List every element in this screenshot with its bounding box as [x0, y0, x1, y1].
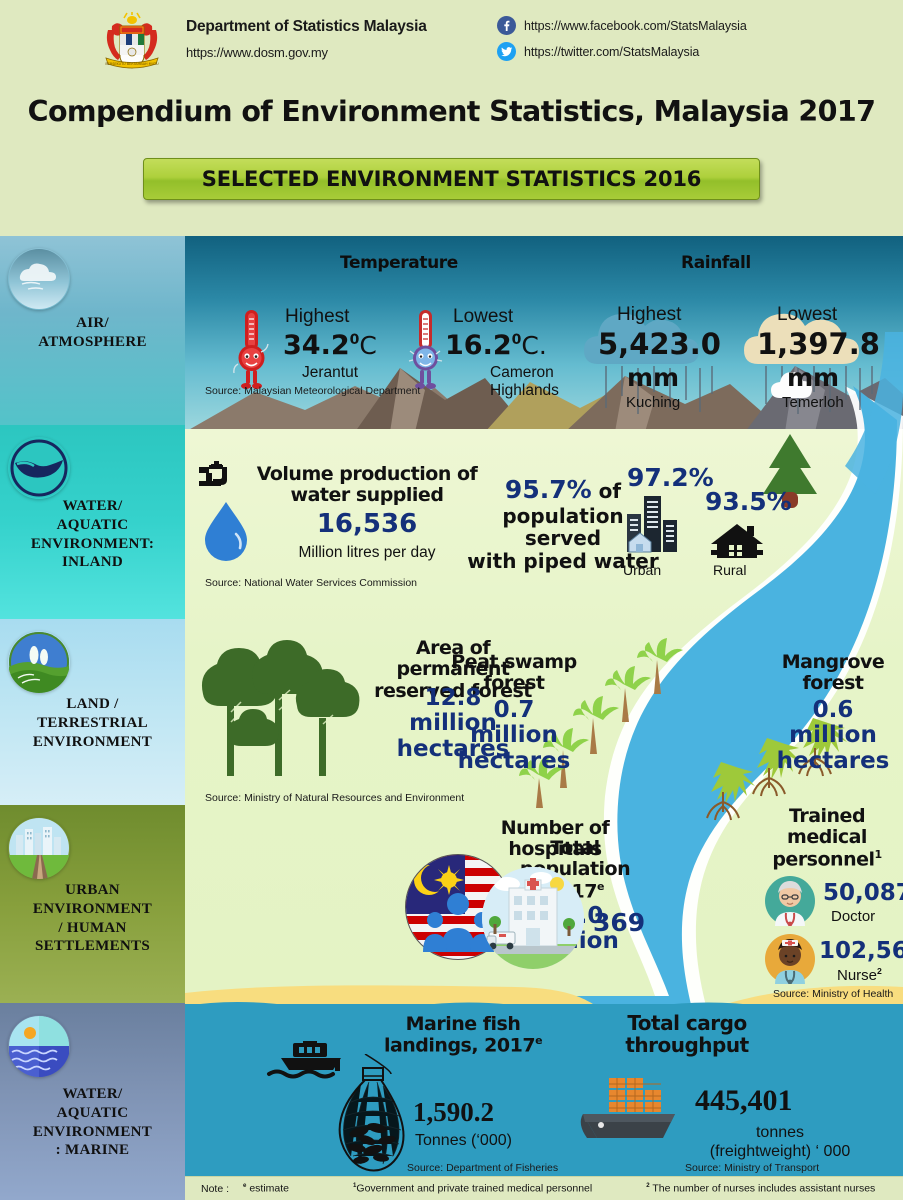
urban-source: Source: Ministry of Health	[773, 988, 893, 1000]
org-url[interactable]: https://www.dosm.gov.my	[186, 45, 427, 60]
peat-swamp-value: 0.7 million hectares	[439, 698, 589, 774]
sidebar-item-label: URBAN ENVIRONMENT / HUMAN SETTLEMENTS	[0, 881, 185, 956]
hot-thermometer-icon	[233, 308, 271, 390]
facebook-icon	[497, 16, 516, 35]
sidebar-item-urban-settlements[interactable]: URBAN ENVIRONMENT / HUMAN SETTLEMENTS	[0, 805, 185, 1003]
social-links: https://www.facebook.com/StatsMalaysia h…	[497, 16, 747, 68]
rain-lowest-label: Lowest	[777, 304, 837, 326]
nurse-avatar-icon	[765, 934, 815, 984]
cargo-source: Source: Ministry of Transport	[685, 1162, 819, 1174]
sidebar-item-water-inland[interactable]: WATER/ AQUATIC ENVIRONMENT: INLAND	[0, 425, 185, 619]
urban-label: Urban	[623, 562, 661, 579]
piped-water-pct: 95.7%	[505, 475, 592, 504]
cargo-unit: tonnes (freightweight) ‘ 000	[665, 1124, 895, 1162]
river-icon	[8, 437, 70, 499]
temp-lowest-place: Cameron Highlands	[490, 364, 559, 401]
shoreline-wave	[185, 998, 903, 1020]
rain-highest-value: 5,423.0	[598, 329, 721, 361]
peat-swamp-title: Peat swamp forest	[439, 652, 589, 695]
rain-highest-label: Highest	[617, 304, 681, 326]
water-inland-source: Source: National Water Services Commissi…	[205, 577, 417, 589]
fishing-net-icon	[325, 1054, 417, 1182]
note-label: Note :	[201, 1183, 229, 1195]
infographic-body: AIR/ ATMOSPHERE WATER/ AQUATIC ENVI	[0, 236, 903, 1200]
note-nurses: 2 The number of nurses includes assistan…	[646, 1182, 875, 1195]
medical-personnel-title: Trained medical personnel1	[751, 806, 903, 870]
content-scene: Temperature Rainfall	[185, 236, 903, 1200]
rural-piped-pct: 93.5%	[705, 488, 792, 516]
nurse-value: 102,564	[819, 939, 903, 964]
rural-label: Rural	[713, 562, 746, 579]
cargo-value: 445,401	[695, 1084, 793, 1117]
twitter-url[interactable]: https://twitter.com/StatsMalaysia	[524, 45, 699, 59]
temp-lowest-label: Lowest	[453, 306, 513, 328]
infographic-page: BERSEKUTU BERTAMBAH MUTU Department of S…	[0, 0, 903, 1200]
urban-piped-pct: 97.2%	[627, 464, 714, 492]
volume-production-unit: Million litres per day	[252, 544, 482, 562]
temp-highest-place: Jerantut	[302, 364, 358, 382]
facebook-url[interactable]: https://www.facebook.com/StatsMalaysia	[524, 19, 747, 33]
land-source: Source: Ministry of Natural Resources an…	[205, 792, 464, 804]
dosm-identity: Department of Statistics Malaysia https:…	[186, 18, 427, 60]
category-sidebar: AIR/ ATMOSPHERE WATER/ AQUATIC ENVI	[0, 236, 185, 1200]
rain-lowest-unit: mm	[787, 364, 839, 392]
cold-thermometer-icon	[408, 308, 444, 390]
field-trees-icon	[8, 631, 70, 693]
rain-highest-place: Kuching	[626, 394, 680, 412]
city-skyline-icon	[8, 817, 70, 879]
water-droplet-icon	[203, 500, 249, 562]
air-source: Source: Malaysian Meteorological Departm…	[205, 385, 420, 397]
sidebar-item-water-marine[interactable]: WATER/ AQUATIC ENVIRONMENT : MARINE	[0, 1003, 185, 1200]
urban-buildings-icon	[625, 494, 683, 556]
cloud-sky-icon	[8, 248, 70, 310]
selected-statistics-banner: SELECTED ENVIRONMENT STATISTICS 2016	[143, 158, 760, 200]
doctor-value: 50,087	[823, 881, 903, 906]
temp-highest-label: Highest	[285, 306, 349, 328]
malaysia-coat-of-arms-icon: BERSEKUTU BERTAMBAH MUTU	[98, 12, 166, 74]
sidebar-item-land-terrestrial[interactable]: LAND / TERRESTRIAL ENVIRONMENT	[0, 619, 185, 805]
forest-trees-icon	[193, 634, 383, 794]
sea-sun-icon	[8, 1015, 70, 1077]
doctor-avatar-icon	[765, 876, 815, 926]
sidebar-item-label: LAND / TERRESTRIAL ENVIRONMENT	[0, 695, 185, 751]
banner-label: SELECTED ENVIRONMENT STATISTICS 2016	[202, 167, 701, 191]
temp-lowest-value: 16.20C.	[445, 331, 547, 361]
mangrove-title: Mangrove forest	[763, 652, 903, 695]
water-tap-icon	[197, 461, 247, 501]
page-header: BERSEKUTU BERTAMBAH MUTU Department of S…	[0, 0, 903, 236]
temperature-section-title: Temperature	[340, 253, 458, 273]
page-title: Compendium of Environment Statistics, Ma…	[0, 95, 903, 128]
rain-lowest-place: Temerloh	[782, 394, 844, 412]
piped-water-of: of	[592, 479, 621, 503]
mangrove-value: 0.6 million hectares	[763, 698, 903, 774]
volume-production-value: 16,536	[252, 510, 482, 539]
rainfall-section-title: Rainfall	[681, 253, 751, 273]
doctor-label: Doctor	[831, 908, 875, 926]
hospital-building-icon	[481, 866, 585, 970]
sidebar-item-air-atmosphere[interactable]: AIR/ ATMOSPHERE	[0, 236, 185, 425]
twitter-icon	[497, 42, 516, 61]
note-medical-personnel: 1Government and private trained medical …	[353, 1182, 592, 1195]
note-estimate: e estimate	[243, 1182, 289, 1195]
org-name: Department of Statistics Malaysia	[186, 18, 427, 36]
volume-production-title: Volume production of water supplied	[252, 464, 482, 507]
twitter-link-row[interactable]: https://twitter.com/StatsMalaysia	[497, 42, 747, 61]
facebook-link-row[interactable]: https://www.facebook.com/StatsMalaysia	[497, 16, 747, 35]
cargo-title: Total cargo throughput	[597, 1012, 777, 1057]
footer-notes: Note : e estimate 1Government and privat…	[185, 1176, 903, 1200]
temp-highest-value: 34.20C	[283, 331, 377, 361]
marine-fish-unit: Tonnes (‘000)	[415, 1132, 512, 1151]
sidebar-item-label: AIR/ ATMOSPHERE	[0, 314, 185, 352]
nurse-label: Nurse2	[837, 966, 882, 985]
hospitals-value: 369	[593, 909, 645, 937]
marine-fish-title: Marine fish landings, 2017e	[383, 1014, 543, 1057]
sidebar-item-label: WATER/ AQUATIC ENVIRONMENT : MARINE	[0, 1085, 185, 1160]
hospitals-title: Number of hospitals	[475, 818, 635, 861]
rural-house-icon	[709, 522, 765, 562]
svg-text:BERSEKUTU BERTAMBAH MUTU: BERSEKUTU BERTAMBAH MUTU	[105, 62, 159, 66]
marine-fish-source: Source: Department of Fisheries	[407, 1162, 558, 1174]
rain-lowest-value: 1,397.8	[757, 329, 880, 361]
rain-highest-unit: mm	[627, 364, 679, 392]
sidebar-item-label: WATER/ AQUATIC ENVIRONMENT: INLAND	[0, 497, 185, 572]
marine-fish-value: 1,590.2	[413, 1098, 494, 1128]
